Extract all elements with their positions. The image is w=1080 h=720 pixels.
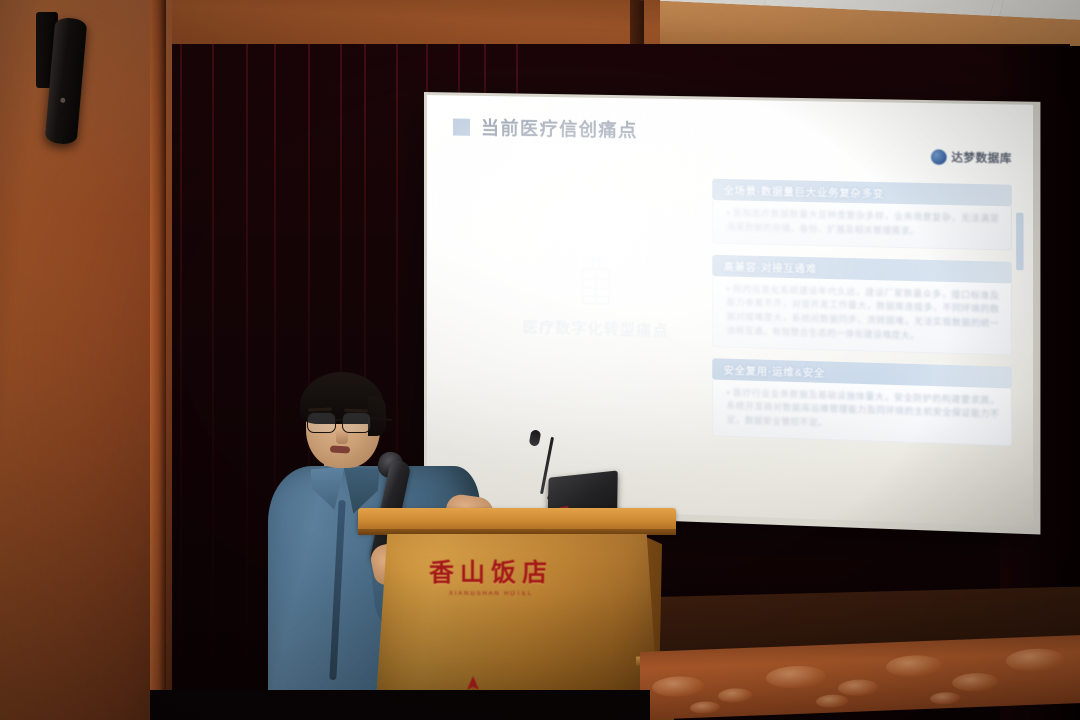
- wall-edge: [150, 0, 166, 720]
- glasses-temple: [370, 417, 392, 421]
- venue-name: 香山饭店: [429, 553, 553, 589]
- projection-screen: 当前医疗信创痛点 达梦数据库 医疗数字化转型痛点: [424, 92, 1040, 535]
- glasses-bridge: [336, 419, 343, 421]
- dm-logo-icon: [930, 149, 946, 165]
- watermark-label: 医疗数字化转型痛点: [523, 316, 669, 341]
- slide-card: 全场景·数据量巨大业务复杂多变 医院医疗数据数量大且种类繁杂多样，业务场景复杂，…: [712, 179, 1012, 250]
- wall-panel-left: [0, 0, 172, 720]
- slide-card: 安全复用·运维&安全 医疗行业业务数据及基础设施体量大，安全防护的构建要求高，系…: [712, 358, 1012, 446]
- slide-title: 当前医疗信创痛点: [481, 114, 638, 143]
- slide-card-text: 医疗行业业务数据及基础设施体量大，安全防护的构建要求高，系统开发商对数据库运维管…: [727, 386, 1000, 437]
- slide-card-text: 院内信息化系统建设年代久远，建设厂家数量众多，接口标准及能力参差不齐，对接开发工…: [727, 282, 1000, 345]
- slide-title-row: 当前医疗信创痛点: [453, 113, 638, 142]
- slide-card-heading: 全场景·数据量巨大业务复杂多变: [724, 182, 885, 201]
- mouth: [330, 445, 350, 453]
- slide-card-list: 全场景·数据量巨大业务复杂多变 医院医疗数据数量大且种类繁杂多样，业务场景复杂，…: [712, 179, 1012, 457]
- speaker-led-icon: [60, 98, 65, 103]
- hospital-building-icon: [572, 257, 619, 311]
- slide-card-heading: 高兼容·对接互通难: [724, 258, 817, 276]
- slide-card-heading: 安全复用·运维&安全: [724, 361, 826, 379]
- venue-plaque: 香山饭店 XIANGSHAN HOTEL: [406, 544, 576, 606]
- slide-card-body: 医疗行业业务数据及基础设施体量大，安全防护的构建要求高，系统开发商对数据库运维管…: [712, 379, 1012, 446]
- nose: [336, 430, 348, 444]
- podium: 香山饭店 XIANGSHAN HOTEL: [352, 508, 682, 720]
- brand-logo: 达梦数据库: [930, 148, 1011, 166]
- projection-screen-surface: 当前医疗信创痛点 达梦数据库 医疗数字化转型痛点: [427, 95, 1033, 527]
- slide-card-body: 院内信息化系统建设年代久远，建设厂家数量众多，接口标准及能力参差不齐，对接开发工…: [712, 276, 1012, 355]
- venue-name-en: XIANGSHAN HOTEL: [449, 591, 533, 597]
- slide-card-body: 医院医疗数据数量大且种类繁杂多样，业务场景复杂，无法满足海量数据的存储、备份、扩…: [712, 200, 1012, 250]
- slide-card: 高兼容·对接互通难 院内信息化系统建设年代久远，建设厂家数量众多，接口标准及能力…: [712, 254, 1012, 355]
- brand-name: 达梦数据库: [951, 149, 1012, 167]
- floor-shadow: [150, 690, 650, 720]
- slide-watermark: 医疗数字化转型痛点: [487, 255, 705, 342]
- scrollbar-thumb[interactable]: [1016, 213, 1023, 271]
- slide-card-text: 医院医疗数据数量大且种类繁杂多样，业务场景复杂，无法满足海量数据的存储、备份、扩…: [727, 206, 1000, 240]
- square-marker-icon: [453, 118, 470, 135]
- conference-room-scene: 当前医疗信创痛点 达梦数据库 医疗数字化转型痛点: [0, 0, 1080, 720]
- lens-left: [307, 412, 336, 433]
- presentation-slide: 当前医疗信创痛点 达梦数据库 医疗数字化转型痛点: [427, 95, 1033, 527]
